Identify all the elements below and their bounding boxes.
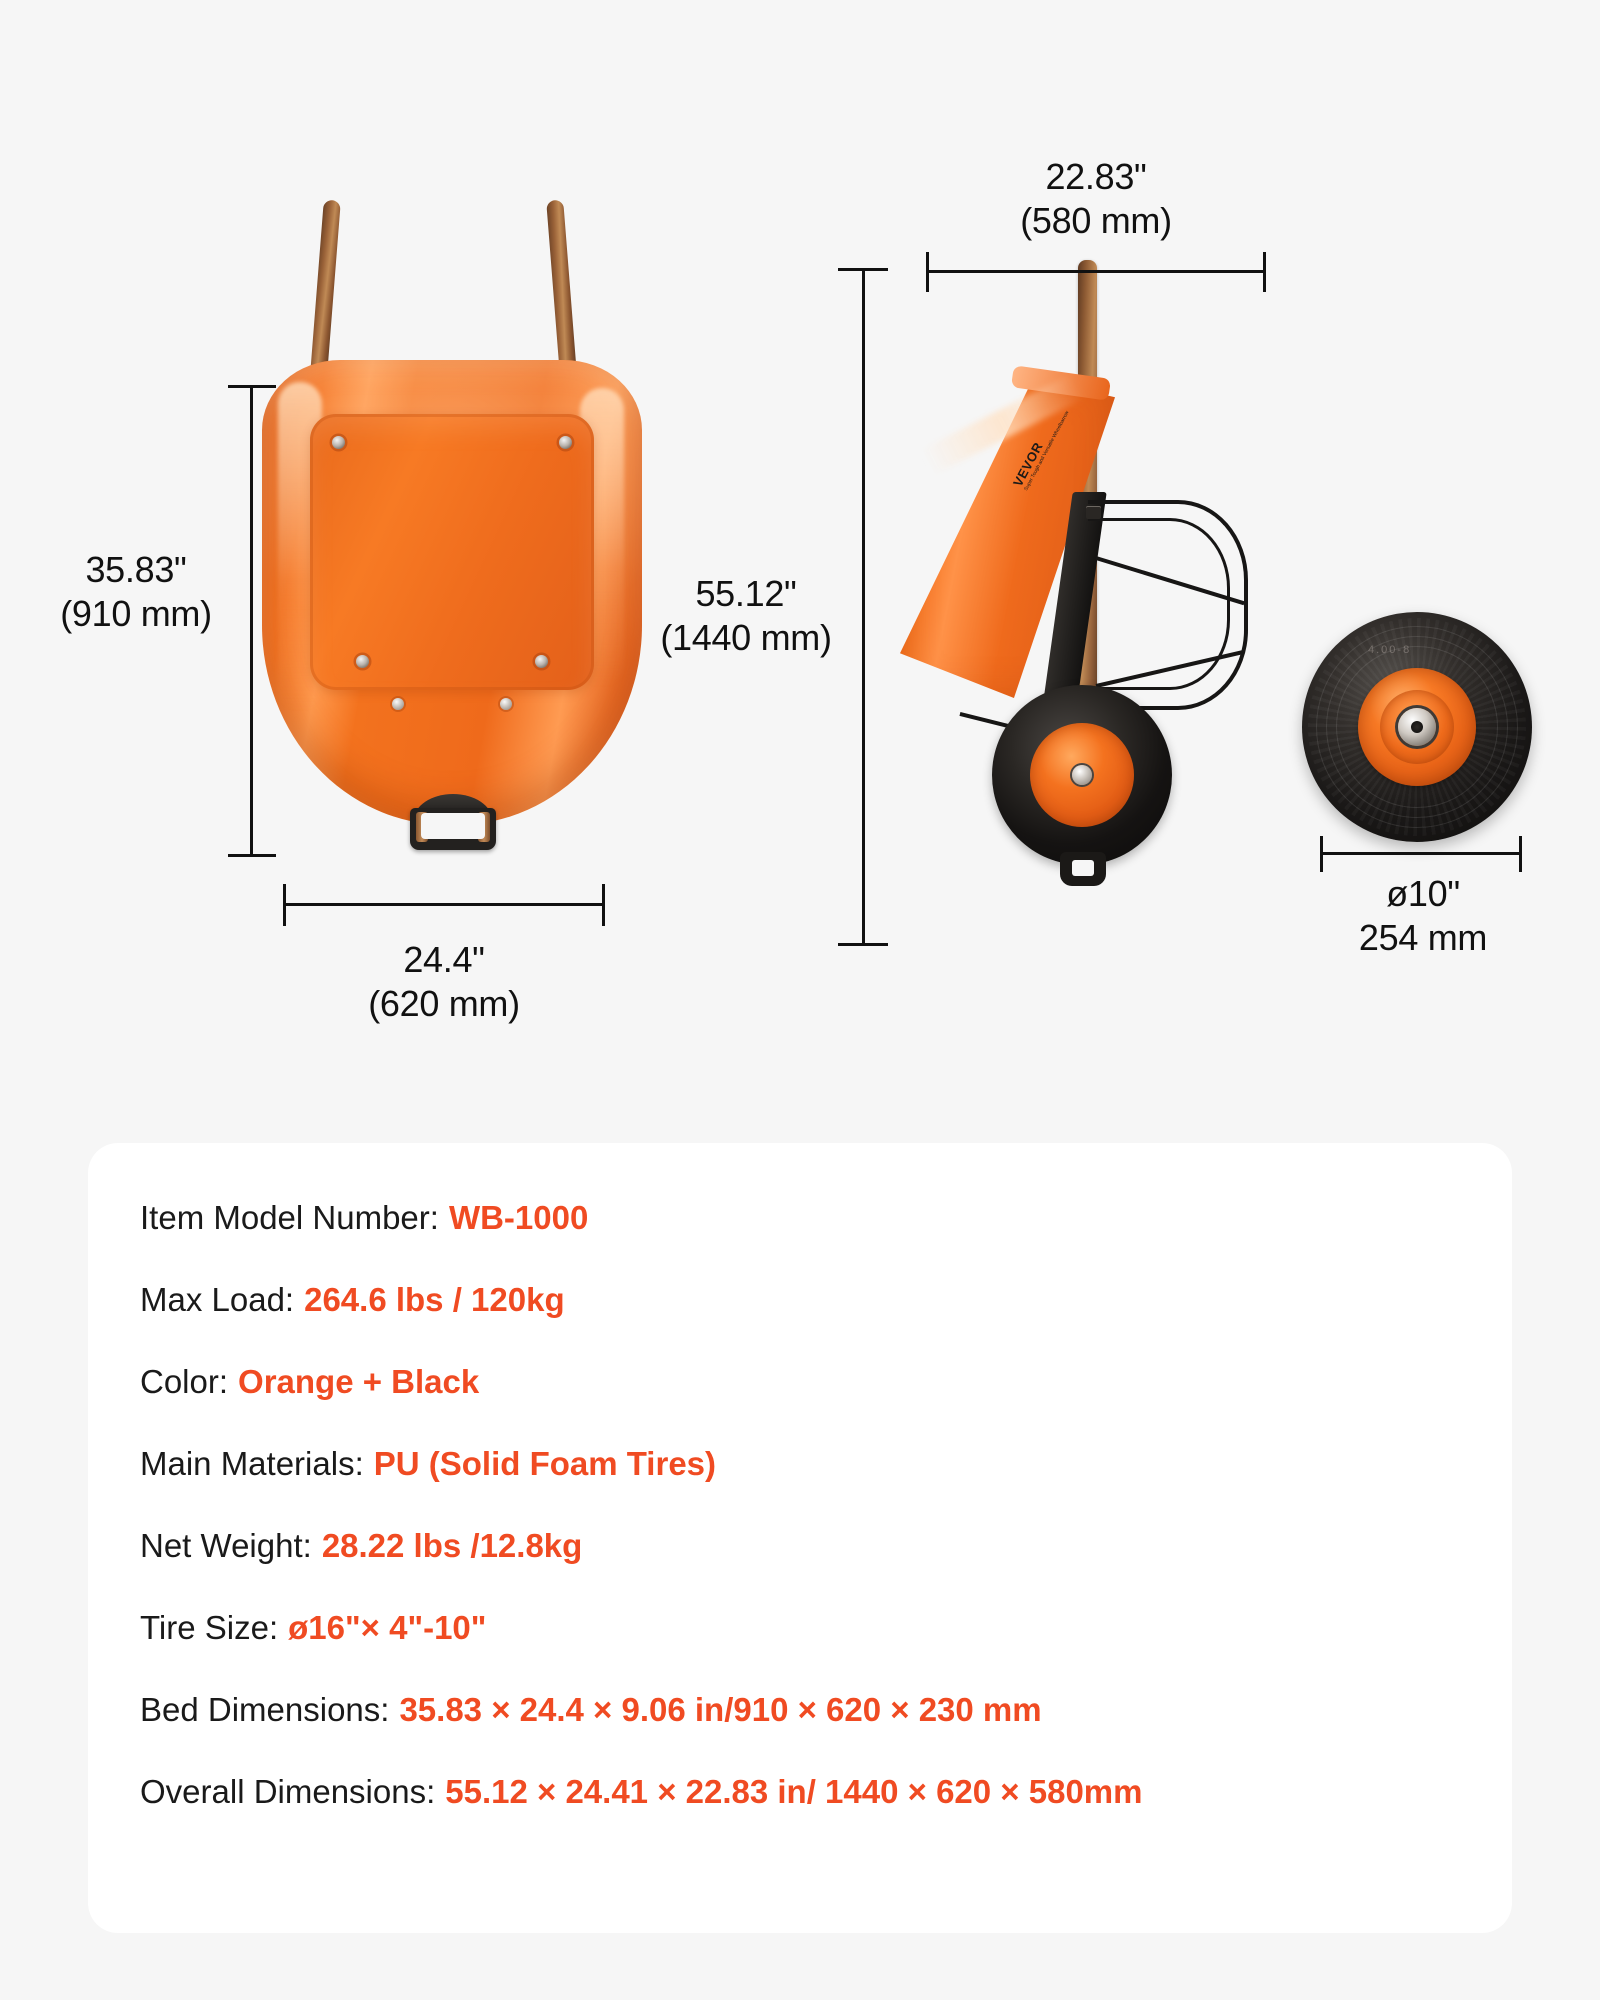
spec-value: WB-1000	[449, 1201, 588, 1234]
dimline-overall-width	[926, 270, 1266, 273]
dimline-wheel-diameter	[1320, 852, 1522, 855]
dimline-overall-length-cap-bottom	[838, 943, 888, 946]
dim-value-metric: (910 mm)	[36, 592, 236, 636]
dim-value-metric: 254 mm	[1318, 916, 1528, 960]
spec-value: 55.12 × 24.41 × 22.83 in/ 1440 × 620 × 5…	[445, 1775, 1142, 1808]
spec-row-color: Color: Orange + Black	[140, 1365, 1512, 1398]
dim-value-metric: (1440 mm)	[630, 616, 862, 660]
top-view-wheelbarrow-tray	[262, 200, 642, 890]
spec-row-net-weight: Net Weight: 28.22 lbs /12.8kg	[140, 1529, 1512, 1562]
dimline-wheel-diameter-cap-right	[1519, 836, 1522, 872]
dim-label-tray-width: 24.4" (620 mm)	[262, 938, 626, 1026]
spec-label: Net Weight:	[140, 1529, 312, 1562]
wheel-axle-hole	[1411, 721, 1423, 733]
dimline-tray-length-cap-bottom	[228, 854, 276, 857]
bolt-icon	[1086, 506, 1101, 519]
bracket-cutout	[421, 813, 485, 839]
dimline-overall-length	[862, 268, 865, 946]
dim-value-imperial: 55.12"	[695, 573, 796, 614]
spec-value: ø16"× 4"-10"	[288, 1611, 486, 1644]
spec-label: Bed Dimensions:	[140, 1693, 389, 1726]
dim-label-overall-length: 55.12" (1440 mm)	[630, 572, 862, 660]
spec-label: Tire Size:	[140, 1611, 278, 1644]
spec-value: 28.22 lbs /12.8kg	[322, 1529, 583, 1562]
spec-row-main-materials: Main Materials: PU (Solid Foam Tires)	[140, 1447, 1512, 1480]
wheel-axle-cap	[1072, 765, 1092, 785]
dimline-overall-width-cap-right	[1263, 252, 1266, 292]
product-spec-sheet: 35.83" (910 mm) 24.4" (620 mm) VEVOR Sup…	[0, 0, 1600, 2000]
tire-emboss-text: 4.00-8	[1368, 644, 1411, 656]
dimline-overall-width-cap-left	[926, 252, 929, 292]
wheel-axle	[1398, 708, 1436, 746]
dimension-diagram: 35.83" (910 mm) 24.4" (620 mm) VEVOR Sup…	[0, 0, 1600, 1120]
rivet-icon	[500, 698, 512, 710]
spec-row-max-load: Max Load: 264.6 lbs / 120kg	[140, 1283, 1512, 1316]
spec-label: Main Materials:	[140, 1447, 364, 1480]
rivet-icon	[559, 436, 572, 449]
stand-foot-cutout	[1072, 860, 1094, 876]
wheel-side	[992, 685, 1172, 865]
specification-card: Item Model Number: WB-1000 Max Load: 264…	[88, 1143, 1512, 1933]
spec-label: Item Model Number:	[140, 1201, 439, 1234]
dim-value-imperial: 22.83"	[1045, 156, 1146, 197]
leg-bracket	[410, 808, 496, 850]
dimline-tray-length	[250, 385, 253, 857]
dim-value-metric: (580 mm)	[920, 199, 1272, 243]
dimline-tray-length-cap-top	[228, 385, 276, 388]
rivet-icon	[392, 698, 404, 710]
dimline-wheel-diameter-cap-left	[1320, 836, 1323, 872]
spec-value: PU (Solid Foam Tires)	[374, 1447, 716, 1480]
spec-value: 35.83 × 24.4 × 9.06 in/910 × 620 × 230 m…	[399, 1693, 1041, 1726]
dim-value-imperial: 35.83"	[85, 549, 186, 590]
dimline-tray-width-cap-left	[283, 884, 286, 926]
dim-label-tray-length: 35.83" (910 mm)	[36, 548, 236, 636]
spec-row-bed-dimensions: Bed Dimensions: 35.83 × 24.4 × 9.06 in/9…	[140, 1693, 1512, 1726]
dim-label-wheel-diameter: ø10" 254 mm	[1318, 872, 1528, 960]
stand-foot	[1060, 852, 1106, 886]
dim-value-metric: (620 mm)	[262, 982, 626, 1026]
rivet-icon	[356, 655, 369, 668]
spec-label: Max Load:	[140, 1283, 294, 1316]
wheel-hub	[1030, 723, 1134, 827]
spec-label: Color:	[140, 1365, 228, 1398]
folding-frame-inner	[1088, 518, 1230, 690]
dim-value-imperial: 24.4"	[403, 939, 484, 980]
side-view-folded-wheelbarrow: VEVOR Super Tough and Versatile Wheelbar…	[900, 260, 1260, 900]
tray-inner-panel	[310, 414, 594, 690]
dimline-overall-length-cap-top	[838, 268, 888, 271]
dimline-tray-width	[283, 903, 605, 906]
wheel-detail-view: 4.00-8	[1302, 612, 1532, 842]
tray-body-top	[262, 360, 642, 825]
rivet-icon	[332, 436, 345, 449]
spec-value: Orange + Black	[238, 1365, 479, 1398]
spec-row-overall-dimensions: Overall Dimensions: 55.12 × 24.41 × 22.8…	[140, 1775, 1512, 1808]
rivet-icon	[535, 655, 548, 668]
spec-value: 264.6 lbs / 120kg	[304, 1283, 565, 1316]
spec-label: Overall Dimensions:	[140, 1775, 435, 1808]
specification-list: Item Model Number: WB-1000 Max Load: 264…	[88, 1143, 1512, 1808]
dimline-tray-width-cap-right	[602, 884, 605, 926]
dim-label-overall-width: 22.83" (580 mm)	[920, 155, 1272, 243]
spec-row-item-model-number: Item Model Number: WB-1000	[140, 1201, 1512, 1234]
dim-value-imperial: ø10"	[1386, 873, 1460, 914]
spec-row-tire-size: Tire Size: ø16"× 4"-10"	[140, 1611, 1512, 1644]
